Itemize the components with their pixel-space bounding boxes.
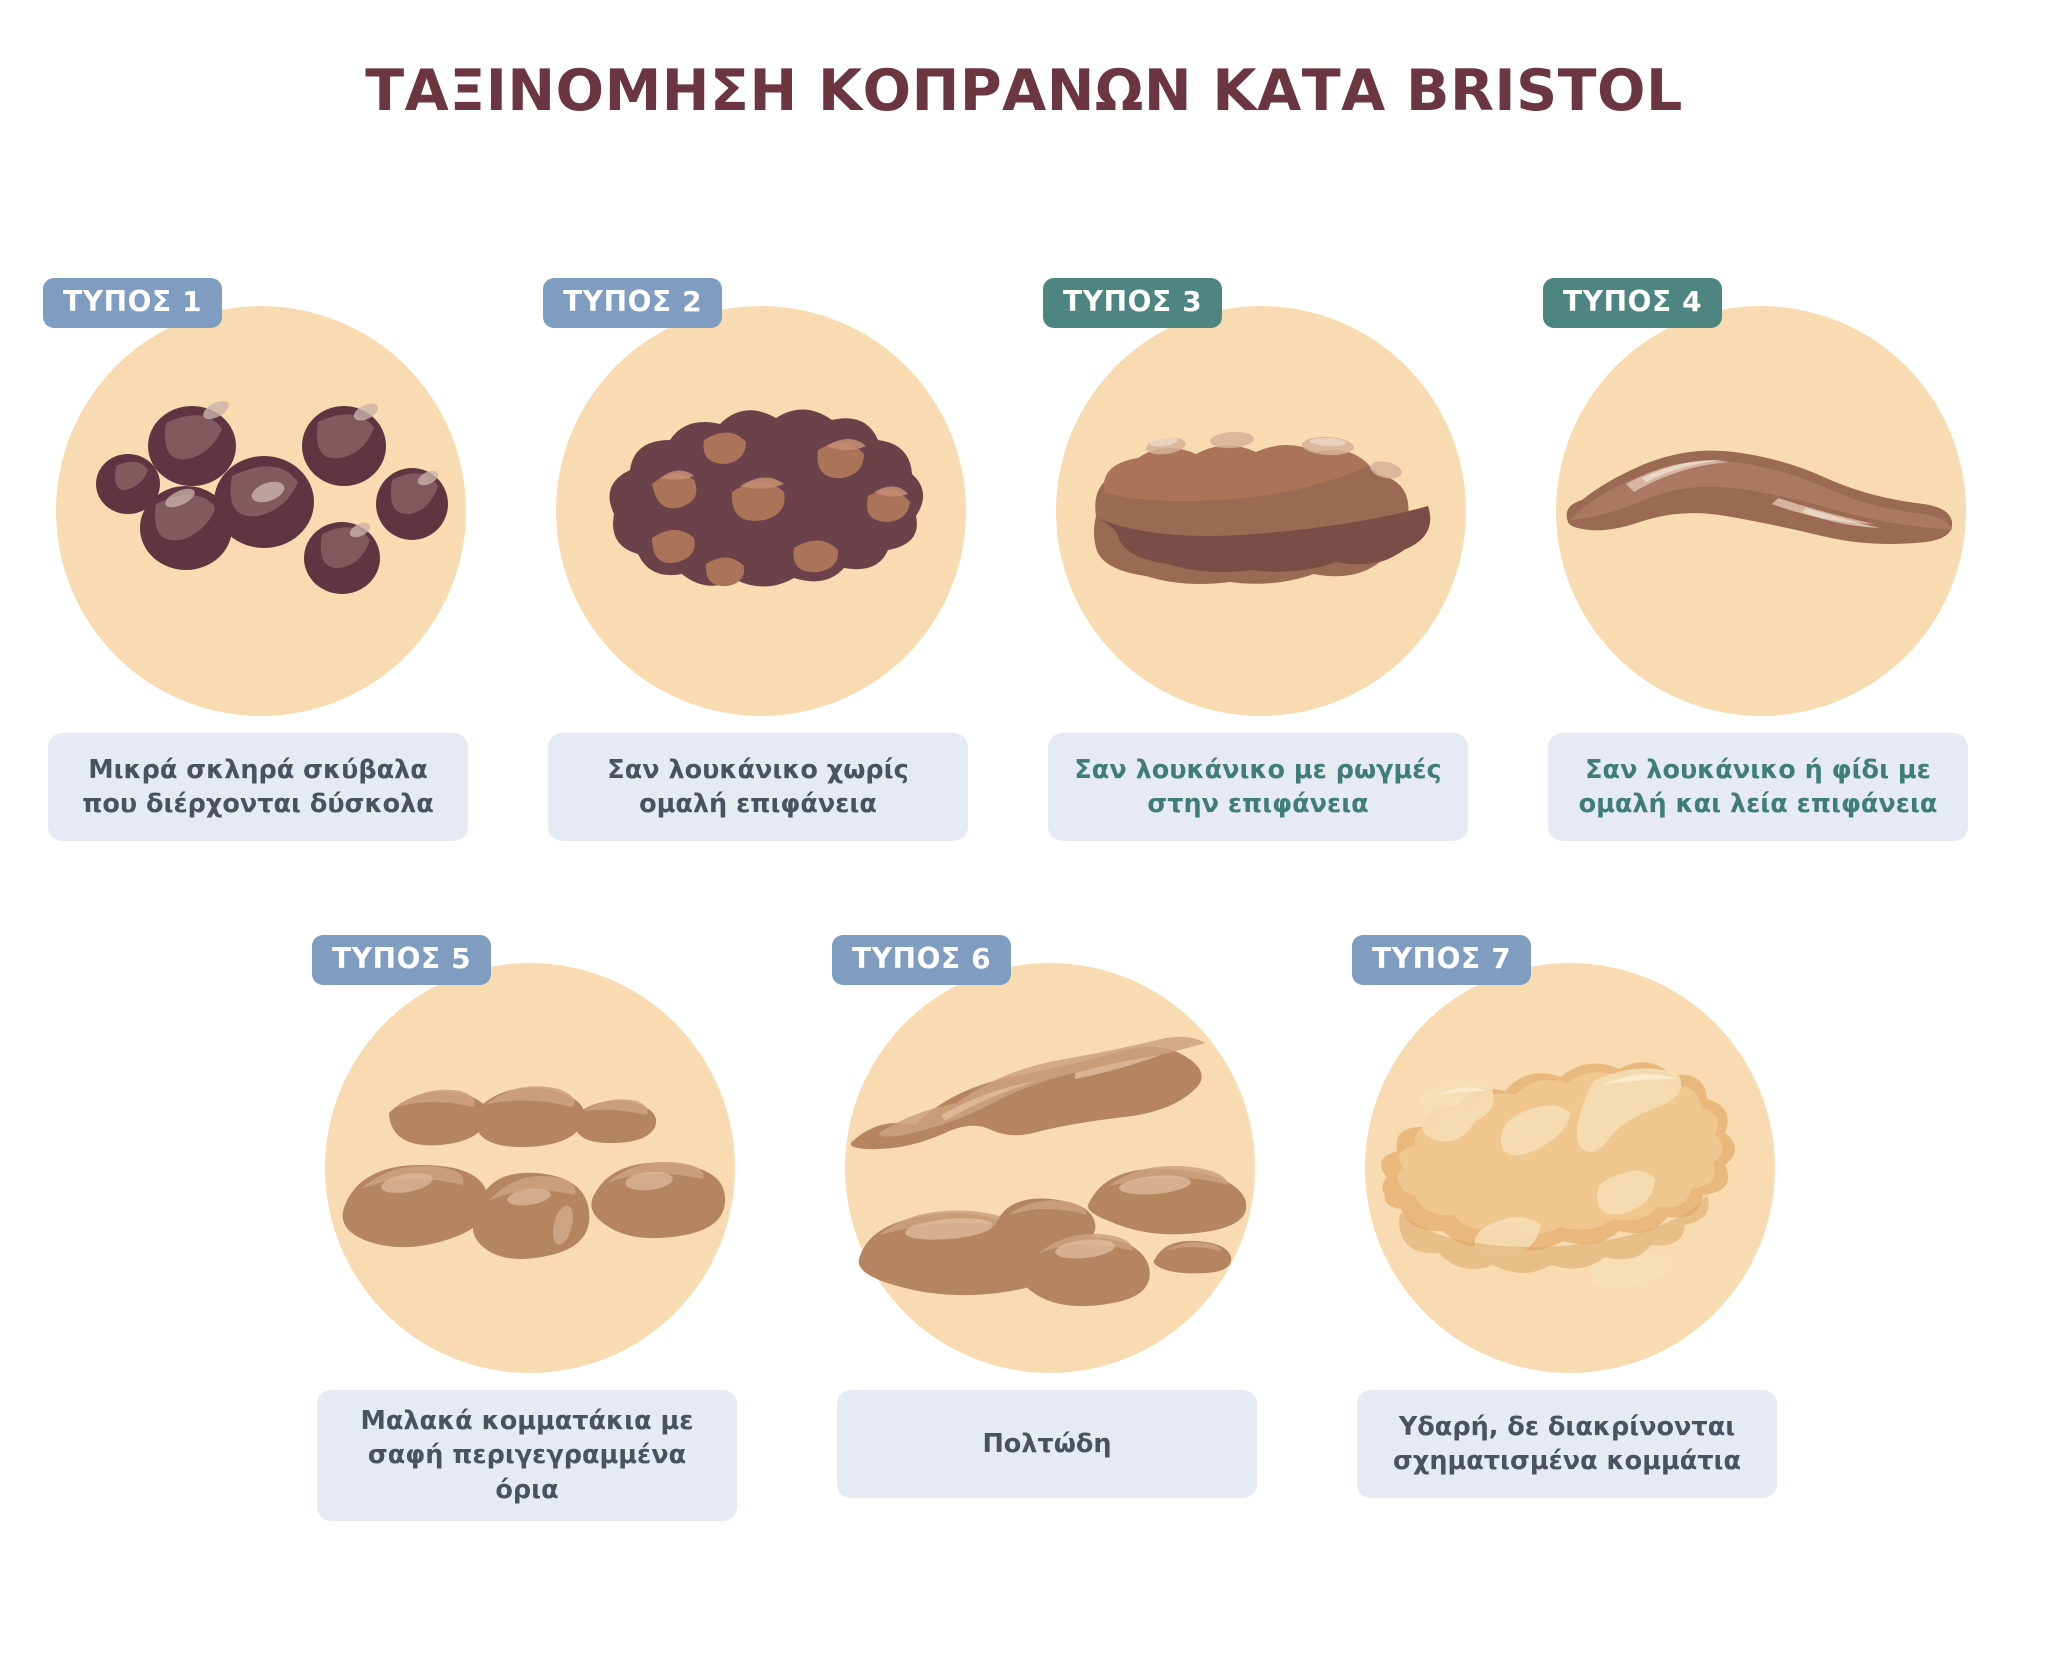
infographic-page: ΤΑΞΙΝΟΜΗΣΗ ΚΟΠΡΑΝΩΝ ΚΑΤΑ BRISTOL — [0, 0, 2048, 1655]
type-badge-5: ΤΥΠΟΣ 5 — [312, 935, 491, 985]
type-badge-6: ΤΥΠΟΣ 6 — [832, 935, 1011, 985]
type-card-3: ΤΥΠΟΣ 3 Σαν λουκάνικο με ρωγμές στην επι… — [1036, 268, 1536, 908]
illustration-separate-hard-lumps — [56, 306, 466, 716]
page-title: ΤΑΞΙΝΟΜΗΣΗ ΚΟΠΡΑΝΩΝ ΚΑΤΑ BRISTOL — [0, 58, 2048, 124]
type-badge-3: ΤΥΠΟΣ 3 — [1043, 278, 1222, 328]
illustration-cracked-sausage — [1056, 306, 1466, 716]
type-card-2: ΤΥΠΟΣ 2 Σαν λουκάνικο χωρίς ομαλή επιφάν… — [536, 268, 1036, 908]
type-card-4: ΤΥΠΟΣ 4 Σαν λουκάνικο ή φίδι με ομαλή κα… — [1536, 268, 2036, 908]
type-caption-1: Μικρά σκληρά σκύβαλα που διέρχονται δύσκ… — [48, 733, 468, 841]
illustration-soft-blobs — [325, 963, 735, 1373]
type-card-6: ΤΥΠΟΣ 6 Πολτώδη — [825, 925, 1345, 1565]
illustration-smooth-snake — [1556, 306, 1966, 716]
type-badge-2: ΤΥΠΟΣ 2 — [543, 278, 722, 328]
types-row-2: ΤΥΠΟΣ 5 Μαλακά κομματάκια με σαφή περιγε… — [305, 925, 1785, 1565]
type-caption-7: Υδαρή, δε διακρίνονται σχηματισμένα κομμ… — [1357, 1390, 1777, 1498]
type-card-1: ΤΥΠΟΣ 1 Μικρά σκληρά σκύβαλα που διέρχον… — [36, 268, 536, 908]
type-card-7: ΤΥΠΟΣ 7 Υδαρή, δε διακρίνονται σχηματισμ… — [1345, 925, 1865, 1565]
type-caption-5: Μαλακά κομματάκια με σαφή περιγεγραμμένα… — [317, 1390, 737, 1521]
types-row-1: ΤΥΠΟΣ 1 Μικρά σκληρά σκύβαλα που διέρχον… — [36, 268, 2026, 908]
type-badge-7: ΤΥΠΟΣ 7 — [1352, 935, 1531, 985]
type-badge-4: ΤΥΠΟΣ 4 — [1543, 278, 1722, 328]
illustration-mushy-fluffy-pieces — [845, 963, 1255, 1373]
illustration-watery-puddle — [1365, 963, 1775, 1373]
type-caption-2: Σαν λουκάνικο χωρίς ομαλή επιφάνεια — [548, 733, 968, 841]
type-caption-6: Πολτώδη — [837, 1390, 1257, 1498]
type-card-5: ΤΥΠΟΣ 5 Μαλακά κομματάκια με σαφή περιγε… — [305, 925, 825, 1565]
type-caption-4: Σαν λουκάνικο ή φίδι με ομαλή και λεία ε… — [1548, 733, 1968, 841]
illustration-lumpy-sausage — [556, 306, 966, 716]
type-caption-3: Σαν λουκάνικο με ρωγμές στην επιφάνεια — [1048, 733, 1468, 841]
type-badge-1: ΤΥΠΟΣ 1 — [43, 278, 222, 328]
